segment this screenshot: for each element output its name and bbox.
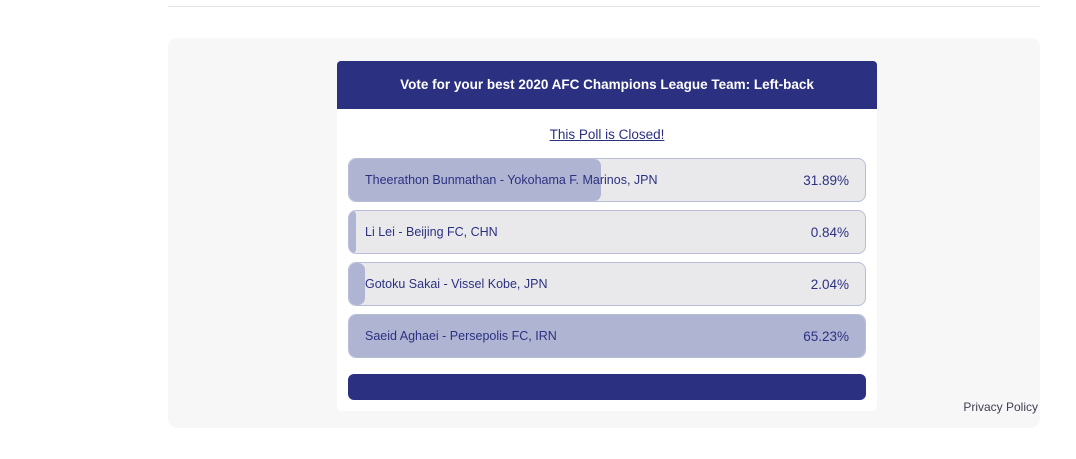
poll-closed-link[interactable]: This Poll is Closed! (348, 127, 866, 142)
poll-option-label: Theerathon Bunmathan - Yokohama F. Marin… (365, 173, 658, 187)
poll-option-content: Theerathon Bunmathan - Yokohama F. Marin… (349, 159, 865, 201)
poll-option-percent: 31.89% (803, 173, 849, 188)
poll-option-label: Li Lei - Beijing FC, CHN (365, 225, 498, 239)
poll-option-percent: 2.04% (811, 277, 849, 292)
poll-option-percent: 65.23% (803, 329, 849, 344)
poll-option-row[interactable]: Theerathon Bunmathan - Yokohama F. Marin… (348, 158, 866, 202)
poll-option-label: Saeid Aghaei - Persepolis FC, IRN (365, 329, 557, 343)
poll-option-content: Gotoku Sakai - Vissel Kobe, JPN 2.04% (349, 263, 865, 305)
poll-title: Vote for your best 2020 AFC Champions Le… (337, 61, 877, 109)
poll-option-content: Li Lei - Beijing FC, CHN 0.84% (349, 211, 865, 253)
poll-options-list: Theerathon Bunmathan - Yokohama F. Marin… (348, 158, 866, 358)
poll-option-label: Gotoku Sakai - Vissel Kobe, JPN (365, 277, 548, 291)
poll-option-row[interactable]: Saeid Aghaei - Persepolis FC, IRN 65.23% (348, 314, 866, 358)
poll-option-row[interactable]: Li Lei - Beijing FC, CHN 0.84% (348, 210, 866, 254)
page-divider (168, 6, 1040, 7)
poll-widget: Vote for your best 2020 AFC Champions Le… (337, 61, 877, 411)
poll-option-content: Saeid Aghaei - Persepolis FC, IRN 65.23% (349, 315, 865, 357)
privacy-policy-link[interactable]: Privacy Policy (963, 400, 1038, 414)
poll-option-row[interactable]: Gotoku Sakai - Vissel Kobe, JPN 2.04% (348, 262, 866, 306)
poll-option-percent: 0.84% (811, 225, 849, 240)
poll-footer-bar (348, 374, 866, 400)
poll-body: This Poll is Closed! Theerathon Bunmatha… (337, 109, 877, 374)
